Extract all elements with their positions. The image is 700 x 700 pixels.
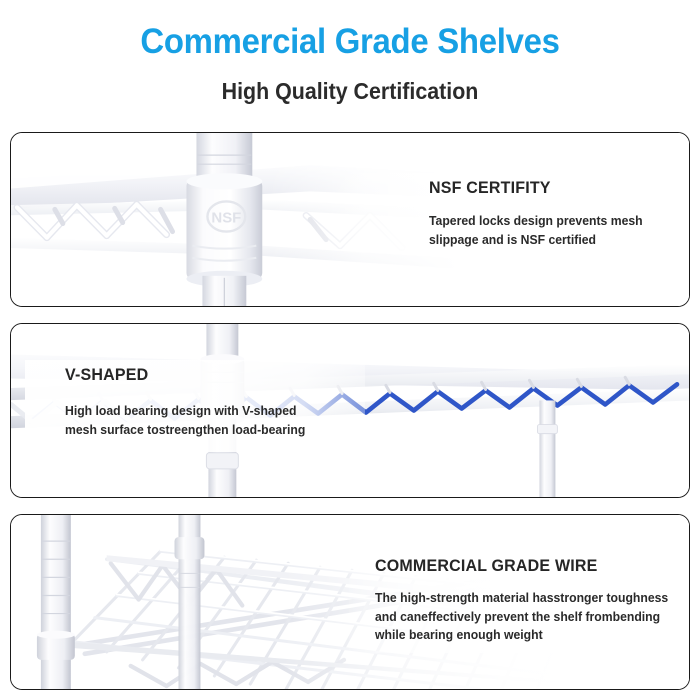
page-subtitle: High Quality Certification xyxy=(25,78,676,105)
callout-commercial-wire: COMMERCIAL GRADE WIRE The high-strength … xyxy=(349,541,690,667)
callout-v-shaped: V-SHAPED High load bearing design with V… xyxy=(25,354,365,474)
callout-text-block: V-SHAPED High load bearing design with V… xyxy=(65,366,333,439)
callout-body: High load bearing design with V-shaped m… xyxy=(65,402,325,439)
callout-body: Tapered locks design prevents mesh slipp… xyxy=(429,212,666,249)
right-post xyxy=(539,400,555,497)
feature-panel-commercial-wire: COMMERCIAL GRADE WIRE The high-strength … xyxy=(10,514,690,690)
callout-text-block: COMMERCIAL GRADE WIRE The high-strength … xyxy=(375,557,681,645)
page-title: Commercial Grade Shelves xyxy=(21,22,679,62)
callout-text-block: NSF CERTIFITY Tapered locks design preve… xyxy=(429,179,673,249)
callout-nsf: NSF CERTIFITY Tapered locks design preve… xyxy=(331,161,681,281)
callout-heading: NSF CERTIFITY xyxy=(429,179,666,198)
feature-panel-nsf: NSF NSF CERTIFITY Tapered locks design p… xyxy=(10,132,690,307)
infographic-page: Commercial Grade Shelves High Quality Ce… xyxy=(0,0,700,700)
header: Commercial Grade Shelves High Quality Ce… xyxy=(0,0,700,118)
callout-body: The high-strength material hasstronger t… xyxy=(375,589,672,645)
feature-panel-v-shaped: V-SHAPED High load bearing design with V… xyxy=(10,323,690,498)
callout-heading: V-SHAPED xyxy=(65,366,325,385)
callout-heading: COMMERCIAL GRADE WIRE xyxy=(375,557,672,576)
